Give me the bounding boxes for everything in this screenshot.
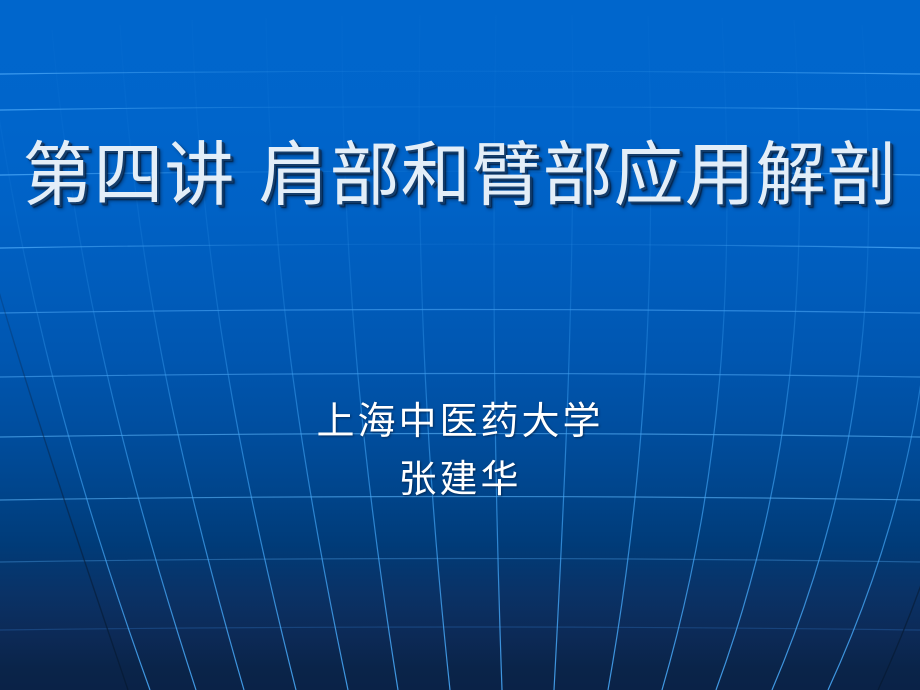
subtitle-organization: 上海中医药大学 — [0, 392, 920, 450]
presentation-slide: 第四讲 肩部和臂部应用解剖 上海中医药大学 张建华 — [0, 0, 920, 690]
slide-title-block: 第四讲 肩部和臂部应用解剖 — [0, 140, 920, 210]
page-title: 第四讲 肩部和臂部应用解剖 — [22, 140, 897, 210]
subtitle-author: 张建华 — [0, 450, 920, 508]
globe-wireframe-graphic — [0, 0, 920, 690]
slide-subtitle-block: 上海中医药大学 张建华 — [0, 392, 920, 508]
